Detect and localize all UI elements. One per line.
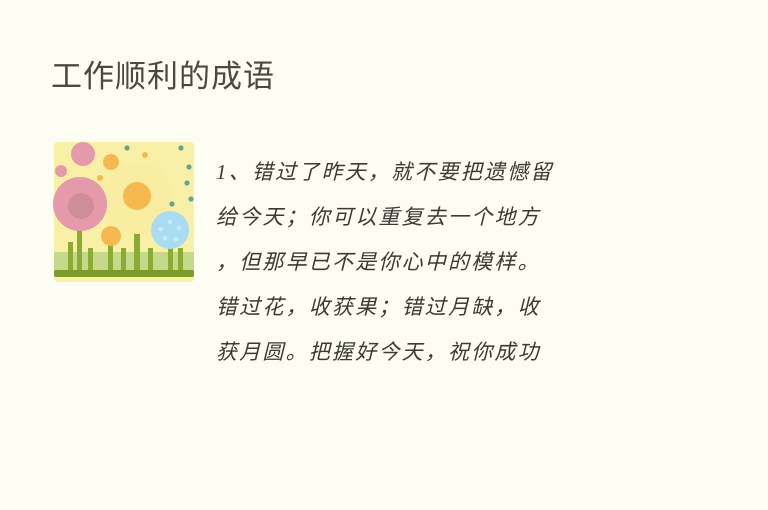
article-line: 给今天；你可以重复去一个地方 bbox=[216, 195, 676, 240]
blue-flower-dot bbox=[168, 220, 173, 225]
teal-dot bbox=[184, 180, 189, 185]
grass-blade bbox=[68, 242, 73, 272]
ground-base-bar bbox=[54, 270, 194, 277]
teal-dot bbox=[124, 145, 129, 150]
blue-flower-dot bbox=[163, 236, 168, 241]
teal-dot bbox=[178, 145, 183, 150]
blue-flower-dot bbox=[174, 237, 179, 242]
grass-blade bbox=[178, 248, 183, 272]
grass-blade bbox=[148, 248, 153, 272]
content-area: 1、错过了昨天，就不要把遗憾留 给今天；你可以重复去一个地方 ，但那早已不是你心… bbox=[0, 128, 768, 428]
article-text: 1、错过了昨天，就不要把遗憾留 给今天；你可以重复去一个地方 ，但那早已不是你心… bbox=[216, 150, 676, 375]
teal-dot bbox=[186, 164, 191, 169]
article-line: 1、错过了昨天，就不要把遗憾留 bbox=[216, 150, 676, 195]
teal-dot bbox=[188, 196, 193, 201]
article-line: 获月圆。把握好今天，祝你成功 bbox=[216, 330, 676, 375]
orange-dot bbox=[97, 175, 103, 181]
orange-dot bbox=[142, 152, 148, 158]
article-line: ，但那早已不是你心中的模样。 bbox=[216, 240, 676, 285]
teal-dot bbox=[169, 201, 174, 206]
blue-flower-dot bbox=[159, 227, 164, 232]
pink-flower-tiny bbox=[55, 165, 67, 177]
pink-flower-center bbox=[68, 193, 94, 219]
blue-flower bbox=[151, 211, 189, 249]
orange-flower-small bbox=[103, 154, 119, 170]
yellow-flower-center bbox=[123, 182, 151, 210]
page-title: 工作顺利的成语 bbox=[51, 57, 275, 97]
flower-garden-graphic bbox=[48, 136, 200, 288]
grass-blade bbox=[88, 248, 93, 272]
article-line: 错过花，收获果；错过月缺，收 bbox=[216, 285, 676, 330]
pink-flower-small bbox=[71, 142, 95, 166]
orange-flower bbox=[101, 226, 121, 246]
flower-garden-illustration bbox=[48, 136, 200, 288]
blue-flower-dot bbox=[177, 226, 182, 231]
grass-blade bbox=[121, 248, 126, 272]
